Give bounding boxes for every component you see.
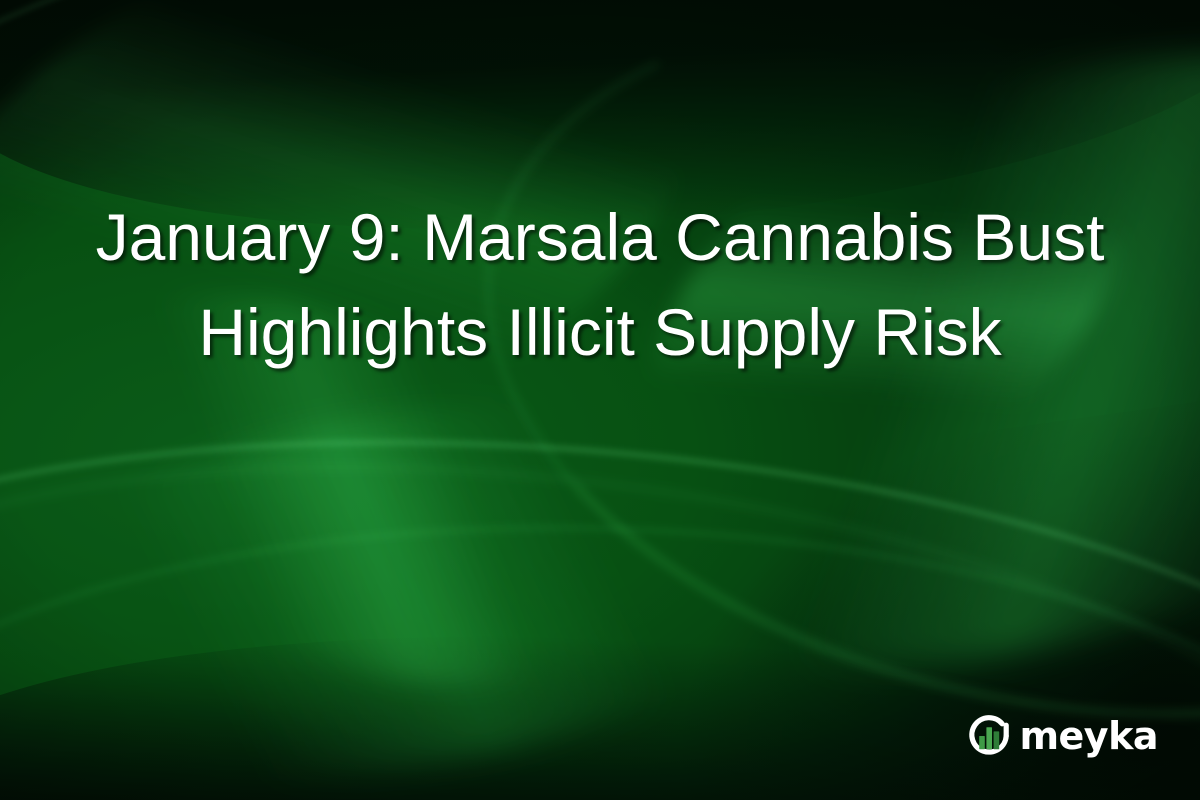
brand-lockup[interactable]: meyka (965, 712, 1158, 760)
hero-card: January 9: Marsala Cannabis Bust Highlig… (0, 0, 1200, 800)
bar-chart-icon (980, 727, 1000, 749)
headline-block: January 9: Marsala Cannabis Bust Highlig… (60, 190, 1140, 380)
meyka-logo-icon (965, 712, 1013, 760)
article-headline: January 9: Marsala Cannabis Bust Highlig… (60, 190, 1140, 380)
brand-name: meyka (1019, 717, 1158, 755)
background-vignette (0, 0, 1200, 800)
